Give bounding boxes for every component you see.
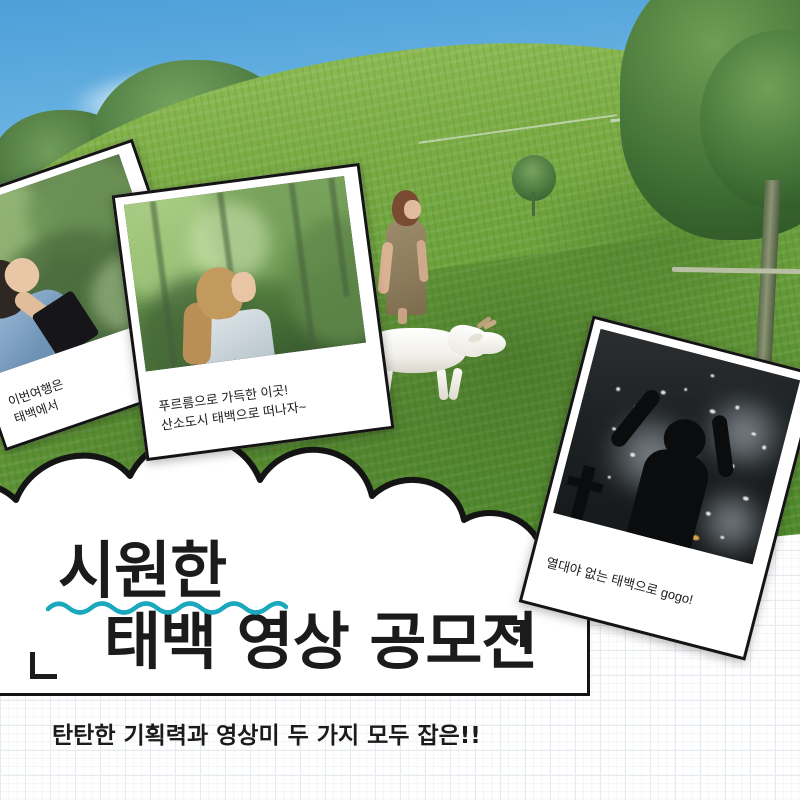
corner-bracket-bottom-left-icon [30,652,57,679]
headline-block: 시원한 태백 영상 공모전 [0,536,800,678]
woman-figure [378,190,434,320]
woman-face [404,200,421,219]
goat-leg [448,367,463,400]
corner-bracket-top-right-icon [498,620,525,647]
goat-leg [436,368,448,401]
silhouette-post [570,465,596,522]
poster-canvas: 이번여행은 태백에서 푸르름으로 가득한 이곳! [0,0,800,800]
wavy-underline-icon [46,598,288,616]
photo-woman-in-forest [124,176,366,372]
photo-night-silhouette [553,329,800,565]
subtitle-text: 탄탄한 기획력과 영상미 두 가지 모두 잡은!! [52,716,752,750]
headline-line-2: 태백 영상 공모전 [58,606,800,678]
photo-card-middle[interactable]: 푸르름으로 가득한 이곳! 산소도시 태백으로 떠나자~ [112,163,395,461]
headline-line-1: 시원한 [58,536,800,606]
